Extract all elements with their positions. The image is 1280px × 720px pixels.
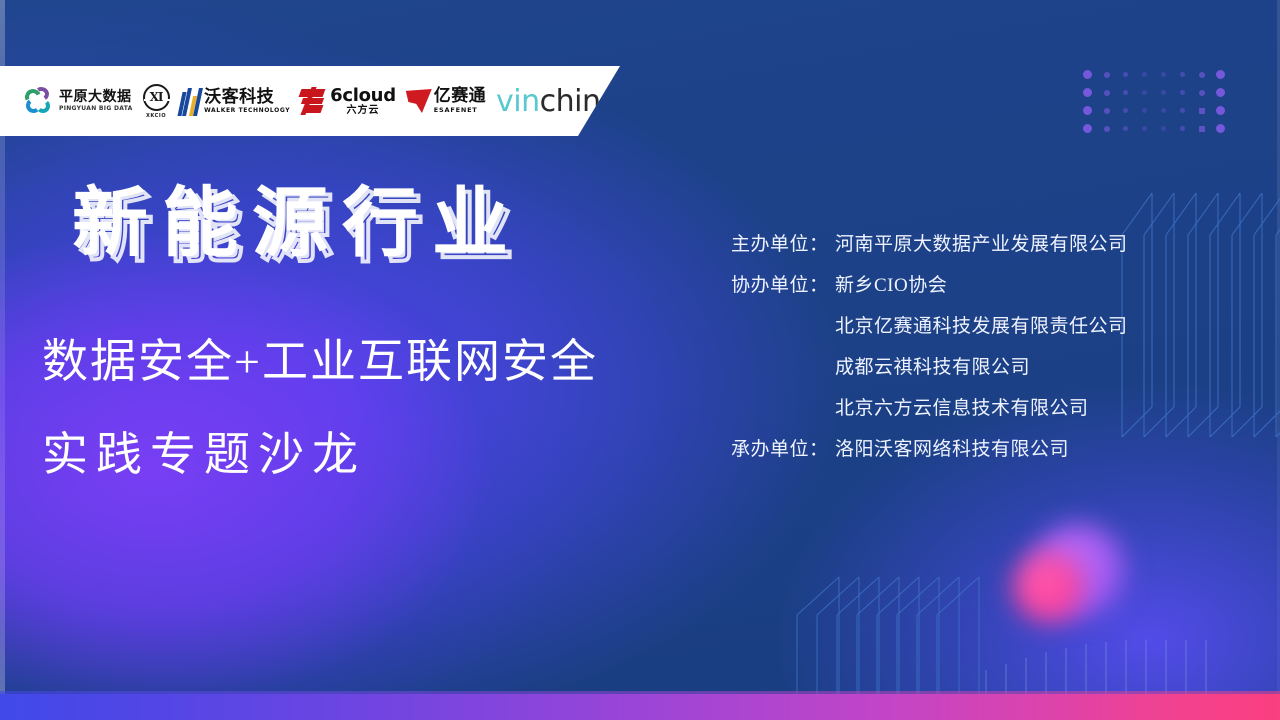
subtitle-line-2: 实践专题沙龙 <box>42 418 366 484</box>
dot <box>1161 108 1166 113</box>
dot <box>1199 108 1205 114</box>
organizer-value: 洛阳沃客网络科技有限公司 <box>835 434 1201 461</box>
organizer-row: 协办单位：新乡CIO协会 <box>731 263 1201 304</box>
dot <box>1104 72 1110 78</box>
dot <box>1216 106 1225 115</box>
organizer-row: 主办单位：河南平原大数据产业发展有限公司 <box>731 222 1201 263</box>
organizer-row: 协办单位：北京亿赛通科技发展有限责任公司 <box>731 304 1201 345</box>
logo-esafenet-en: ESAFENET <box>434 107 486 114</box>
dot <box>1180 126 1185 131</box>
logo-xkcio[interactable]: XI XKCIO <box>143 81 170 121</box>
organizer-value: 北京亿赛通科技发展有限责任公司 <box>835 311 1201 338</box>
logo-vinchin-part1: vin <box>496 84 540 119</box>
logo-6cloud[interactable]: 6cloud 六方云 <box>300 81 396 121</box>
sponsor-logo-banner: 平原大数据 PINGYUAN BIG DATA XI XKCIO 沃客科技 WA… <box>0 66 620 136</box>
poster-canvas: 平原大数据 PINGYUAN BIG DATA XI XKCIO 沃客科技 WA… <box>0 0 1280 720</box>
blurred-circle-pink-icon <box>1013 552 1083 622</box>
esafenet-shield-icon <box>406 89 432 113</box>
organizer-value: 成都云祺科技有限公司 <box>835 352 1201 379</box>
dot <box>1216 70 1225 79</box>
dot <box>1199 126 1205 132</box>
dot <box>1142 72 1147 77</box>
dot <box>1083 88 1092 97</box>
organizer-value: 河南平原大数据产业发展有限公司 <box>835 229 1201 256</box>
organizer-label: 承办单位： <box>731 434 835 461</box>
dot-grid-icon <box>1083 70 1223 140</box>
dot <box>1180 108 1185 113</box>
dot <box>1083 124 1092 133</box>
organizer-label: 协办单位： <box>731 270 835 297</box>
logo-6cloud-en: 6cloud <box>330 87 396 105</box>
dot <box>1083 70 1092 79</box>
logo-pingyuan-big-data[interactable]: 平原大数据 PINGYUAN BIG DATA <box>24 81 133 121</box>
dot <box>1180 90 1185 95</box>
dot <box>1161 126 1166 131</box>
dot <box>1104 108 1110 114</box>
logo-xkcio-mark: XI <box>150 90 163 104</box>
dot <box>1161 72 1166 77</box>
dot <box>1142 108 1147 113</box>
dot <box>1216 124 1225 133</box>
logo-pingyuan-en: PINGYUAN BIG DATA <box>59 106 133 112</box>
logo-6cloud-cn: 六方云 <box>330 106 396 116</box>
logo-walker-en: WALKER TECHNOLOGY <box>204 108 290 114</box>
dot <box>1104 90 1110 96</box>
6cloud-bolt-icon <box>300 87 326 115</box>
organizer-label: 主办单位： <box>731 229 835 256</box>
dot <box>1123 72 1128 77</box>
page-title-text: 新能源行业 <box>72 185 522 261</box>
dot <box>1199 72 1205 78</box>
dot <box>1123 90 1128 95</box>
dot <box>1083 106 1092 115</box>
pingyuan-swirl-icon <box>24 86 54 116</box>
dot <box>1123 108 1128 113</box>
logo-walker-cn: 沃客科技 <box>204 89 290 106</box>
logo-vinchin[interactable]: vinchin <box>496 81 600 121</box>
xkcio-circle-icon: XI <box>143 84 170 111</box>
walker-w-icon <box>180 86 201 116</box>
logo-vinchin-part2: chin <box>540 84 601 119</box>
logo-walker-technology[interactable]: 沃客科技 WALKER TECHNOLOGY <box>180 81 291 121</box>
page-title: 新能源行业 <box>72 185 522 261</box>
logo-xkcio-sub: XKCIO <box>146 113 166 119</box>
dot <box>1180 72 1185 77</box>
dot <box>1123 126 1128 131</box>
logo-esafenet[interactable]: 亿赛通 ESAFENET <box>406 81 486 121</box>
organizer-row: 承办单位：洛阳沃客网络科技有限公司 <box>731 427 1201 468</box>
organizer-row: 协办单位：北京六方云信息技术有限公司 <box>731 386 1201 427</box>
organizer-row: 协办单位：成都云祺科技有限公司 <box>731 345 1201 386</box>
gradient-bar-icon <box>0 694 1280 720</box>
dot <box>1142 126 1147 131</box>
logo-pingyuan-cn: 平原大数据 <box>59 90 133 104</box>
organizer-list: 主办单位：河南平原大数据产业发展有限公司协办单位：新乡CIO协会协办单位：北京亿… <box>731 222 1201 468</box>
dot <box>1104 126 1110 132</box>
organizer-value: 新乡CIO协会 <box>835 270 1201 297</box>
sponsor-logo-row: 平原大数据 PINGYUAN BIG DATA XI XKCIO 沃客科技 WA… <box>0 81 600 121</box>
dot <box>1142 90 1147 95</box>
organizer-value: 北京六方云信息技术有限公司 <box>835 393 1201 420</box>
logo-esafenet-cn: 亿赛通 <box>434 88 486 105</box>
subtitle-line-1: 数据安全+工业互联网安全 <box>42 325 598 391</box>
dot <box>1161 90 1166 95</box>
dot <box>1216 88 1225 97</box>
dot <box>1199 90 1205 96</box>
